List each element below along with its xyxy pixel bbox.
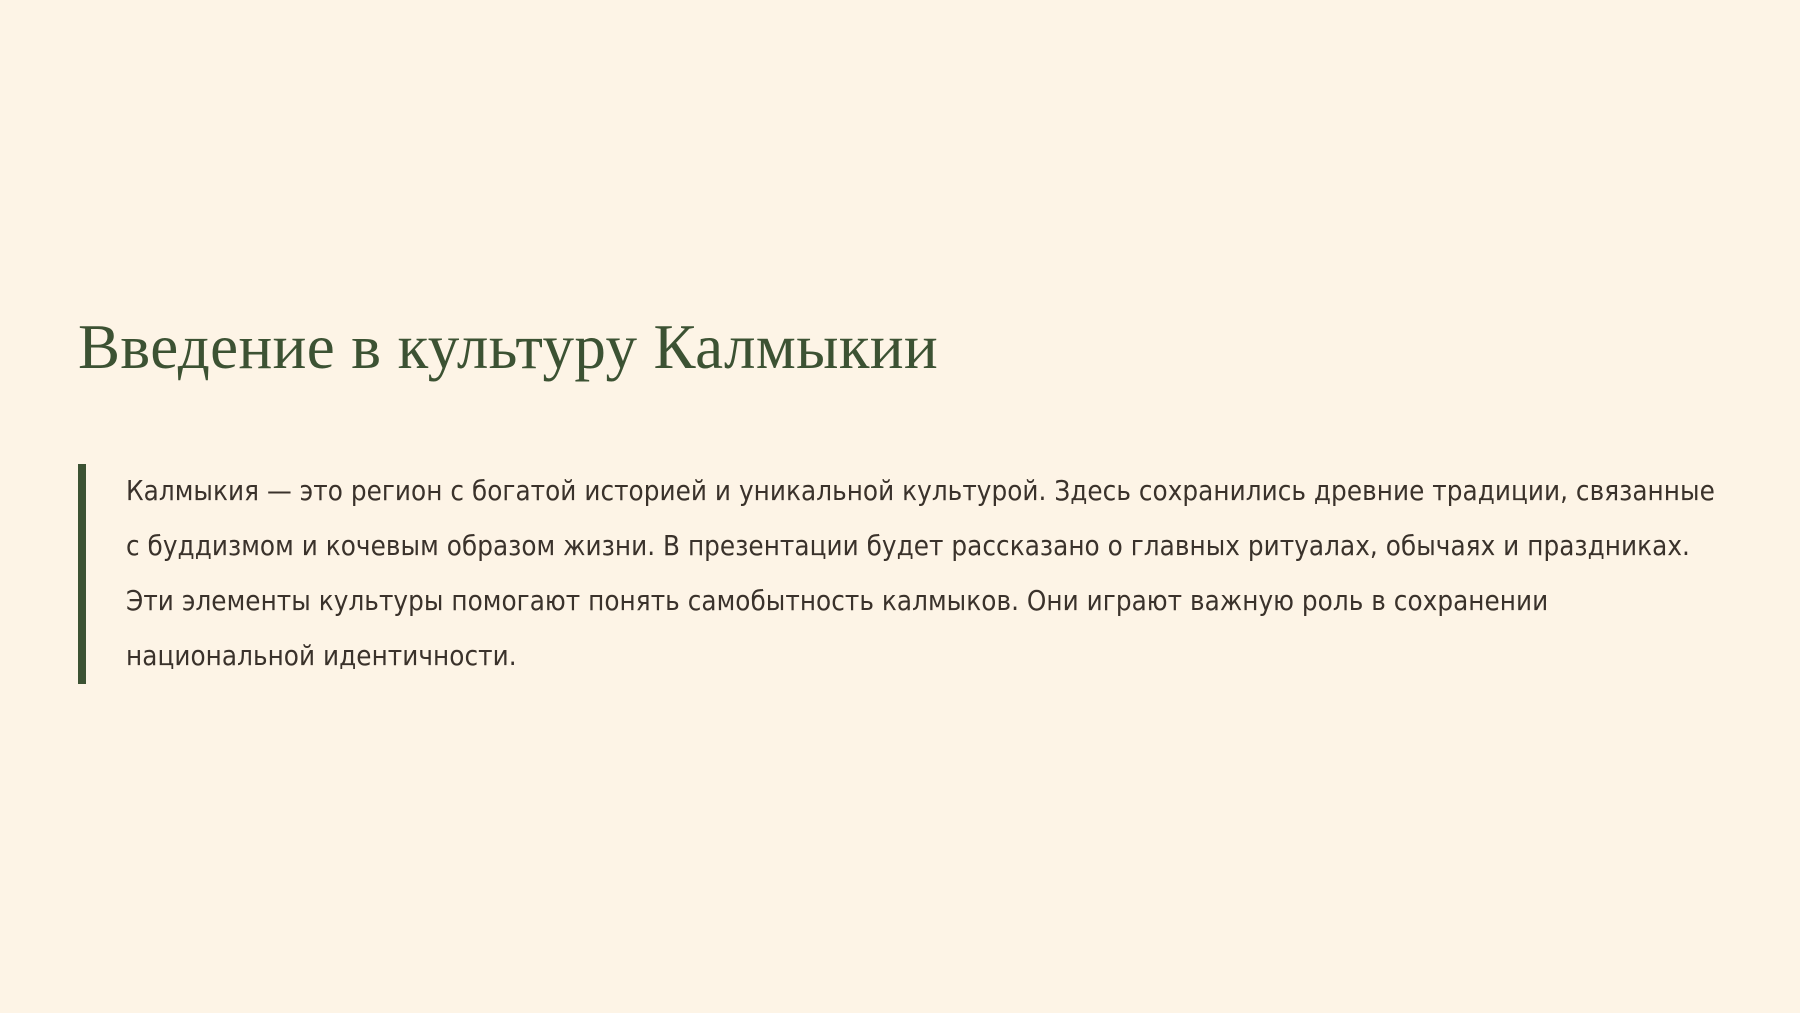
quote-block: Калмыкия — это регион с богатой историей… bbox=[78, 464, 1732, 684]
presentation-slide: Введение в культуру Калмыкии Калмыкия — … bbox=[0, 0, 1800, 1013]
body-paragraph: Калмыкия — это регион с богатой историей… bbox=[86, 464, 1732, 684]
accent-bar bbox=[78, 464, 86, 684]
page-title: Введение в культуру Калмыкии bbox=[78, 312, 938, 383]
slide-content: Введение в культуру Калмыкии Калмыкия — … bbox=[78, 0, 1728, 1013]
